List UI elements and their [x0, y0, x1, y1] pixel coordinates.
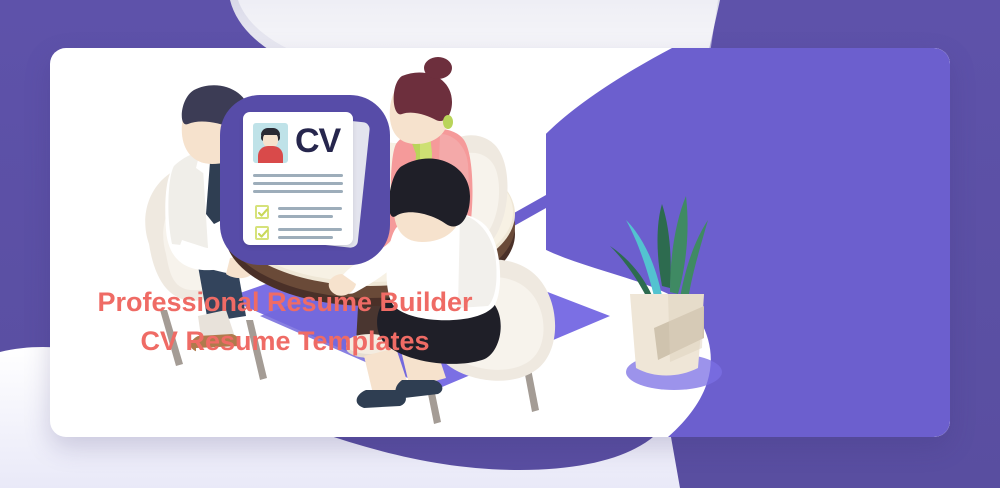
- cv-app-icon[interactable]: CV: [220, 95, 390, 265]
- avatar: [253, 123, 288, 163]
- check-icon: [258, 208, 268, 218]
- document-front-page: CV: [243, 112, 353, 245]
- checkbox-checked[interactable]: [255, 226, 269, 240]
- left-content-panel: CV: [50, 48, 520, 437]
- doc-text-line: [278, 215, 333, 218]
- avatar-body: [258, 146, 283, 163]
- screenshot-root: CV: [0, 0, 1000, 488]
- promo-card: CV: [50, 48, 950, 437]
- page-title: Professional Resume Builder CV Resume Te…: [50, 283, 520, 361]
- cv-label: CV: [295, 122, 340, 160]
- doc-text-line: [278, 236, 333, 239]
- doc-text-line: [278, 228, 342, 231]
- purple-s-shape: [507, 48, 950, 437]
- check-icon: [258, 229, 268, 239]
- doc-text-line: [253, 190, 343, 193]
- doc-text-line: [253, 174, 343, 177]
- doc-text-line: [253, 182, 343, 185]
- avatar-fringe: [261, 128, 280, 135]
- title-line-1: Professional Resume Builder: [97, 287, 472, 317]
- checkbox-checked[interactable]: [255, 205, 269, 219]
- doc-text-line: [278, 207, 342, 210]
- title-line-2: CV Resume Templates: [50, 322, 520, 361]
